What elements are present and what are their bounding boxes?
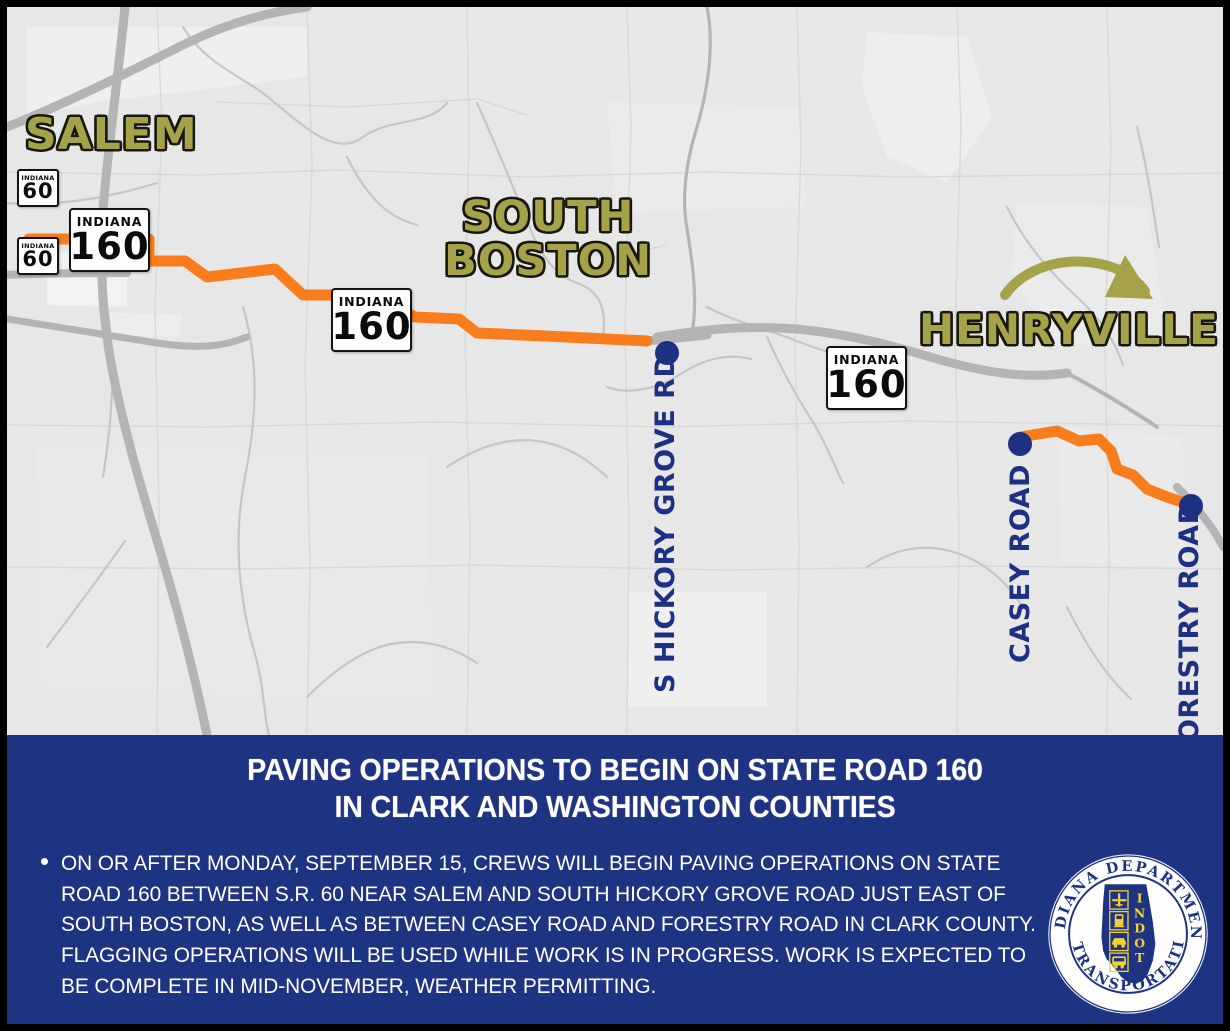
shield-number-text: 60	[22, 250, 53, 269]
indot-seal-logo: INDIANA DEPARTMENT OF TRANSPORTATION I N…	[1045, 851, 1211, 1017]
map-label-s-hickory-grove-rd: S HICKORY GROVE RD	[650, 355, 681, 693]
page-title: PAVING OPERATIONS TO BEGIN ON STATE ROAD…	[85, 752, 1145, 826]
train-icon	[1114, 914, 1124, 927]
map-label-casey-road: CASEY ROAD	[1005, 464, 1036, 663]
svg-text:O: O	[1134, 935, 1145, 950]
page-title-line-1: PAVING OPERATIONS TO BEGIN ON STATE ROAD…	[85, 752, 1145, 789]
announcement-body: ON OR AFTER MONDAY, SEPTEMBER 15, CREWS …	[33, 848, 1073, 1002]
svg-text:T: T	[1135, 950, 1145, 965]
shield-number-text: 160	[826, 368, 906, 402]
route-shield-sr160-west[interactable]: INDIANA 160	[69, 208, 150, 272]
indot-press-graphic: SALEM SOUTH BOSTON HENRYVILLE INDIANA 60…	[0, 0, 1230, 1031]
city-label-henryville: HENRYVILLE	[919, 309, 1219, 352]
shield-number-text: 160	[331, 310, 411, 344]
route-shield-sr160-east[interactable]: INDIANA 160	[826, 346, 907, 410]
list-item: ON OR AFTER MONDAY, SEPTEMBER 15, CREWS …	[33, 848, 1073, 1002]
route-shield-sr60-south[interactable]: INDIANA 60	[17, 237, 59, 275]
shield-number-text: 60	[22, 182, 53, 201]
shield-number-text: 160	[69, 230, 149, 264]
city-label-salem: SALEM	[25, 113, 198, 158]
route-shield-sr60-north[interactable]: INDIANA 60	[17, 169, 59, 207]
city-label-south-boston: SOUTH BOSTON	[444, 196, 652, 284]
info-banner: PAVING OPERATIONS TO BEGIN ON STATE ROAD…	[7, 735, 1223, 1024]
svg-text:D: D	[1134, 920, 1145, 935]
svg-text:N: N	[1134, 905, 1145, 920]
page-title-line-2: IN CLARK AND WASHINGTON COUNTIES	[85, 789, 1145, 826]
route-shield-sr160-mid[interactable]: INDIANA 160	[331, 288, 412, 352]
announcement-text: ON OR AFTER MONDAY, SEPTEMBER 15, CREWS …	[61, 848, 1048, 1002]
map-canvas[interactable]: SALEM SOUTH BOSTON HENRYVILLE INDIANA 60…	[7, 7, 1223, 735]
map-label-forestry-road: FORESTRY ROAD	[1174, 501, 1205, 735]
bullet-dot-icon	[41, 858, 48, 865]
svg-text:I: I	[1137, 890, 1143, 905]
map-marker-dot-casey-road[interactable]	[1008, 432, 1032, 456]
